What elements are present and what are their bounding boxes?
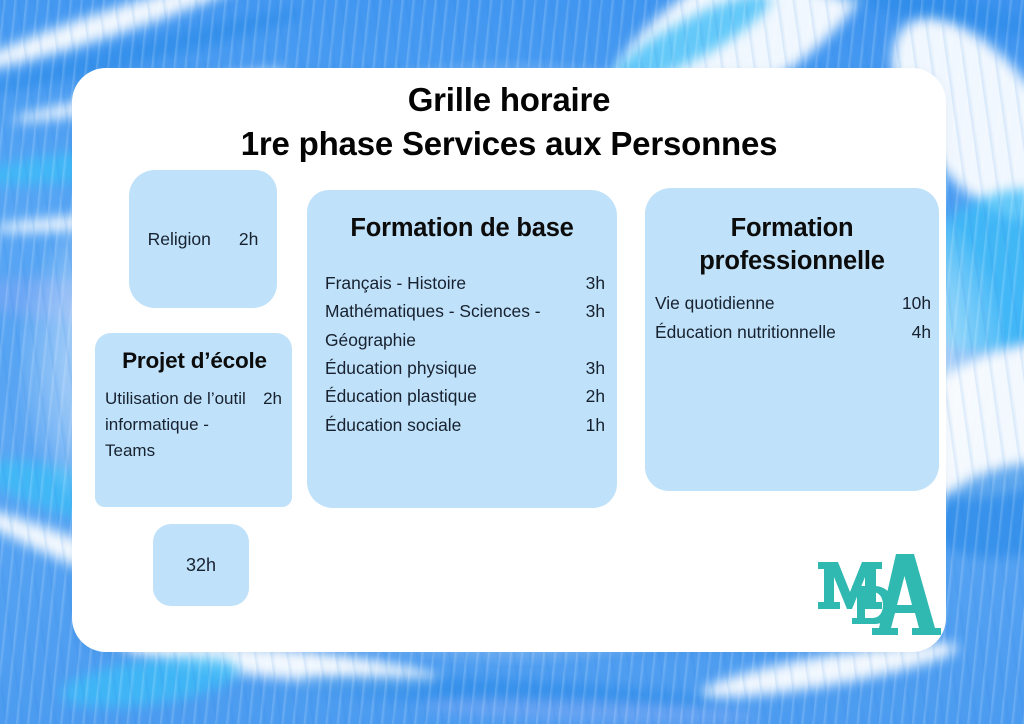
table-row: Éducation sociale 1h — [325, 411, 605, 439]
block-formation-de-base: Formation de base Français - Histoire 3h… — [307, 190, 617, 508]
religion-hours: 2h — [211, 229, 258, 250]
formation-pro-heading-line-1: Formation — [659, 212, 925, 245]
row-label: Éducation nutritionnelle — [655, 318, 836, 347]
row-hours: 2h — [253, 386, 282, 412]
row-label: Éducation physique — [325, 354, 477, 382]
row-hours: 3h — [576, 354, 605, 382]
title-line-1: Grille horaire — [72, 80, 946, 120]
row-hours: 3h — [576, 297, 605, 325]
row-label: Utilisation de l’outil informatique - Te… — [105, 386, 253, 463]
table-row: Religion 2h — [148, 229, 259, 250]
block-total-hours: 32h — [153, 524, 249, 606]
row-label: Éducation plastique — [325, 382, 477, 410]
formation-base-heading: Formation de base — [307, 214, 617, 243]
table-row: Éducation nutritionnelle 4h — [655, 318, 931, 347]
block-formation-professionnelle: Formation professionnelle Vie quotidienn… — [645, 188, 939, 491]
projet-ecole-rows: Utilisation de l’outil informatique - Te… — [95, 386, 292, 463]
formation-pro-heading-line-2: professionnelle — [659, 245, 925, 278]
page-title: Grille horaire 1re phase Services aux Pe… — [72, 80, 946, 165]
projet-ecole-heading: Projet d’école — [97, 348, 292, 374]
row-label: Français - Histoire — [325, 269, 466, 297]
block-projet-ecole: Projet d’école Utilisation de l’outil in… — [95, 333, 292, 507]
row-hours: 10h — [892, 289, 931, 318]
row-hours: 4h — [902, 318, 931, 347]
row-label: Mathématiques - Sciences - Géographie — [325, 297, 576, 354]
table-row: Mathématiques - Sciences - Géographie 3h — [325, 297, 605, 354]
row-hours: 1h — [576, 411, 605, 439]
row-label: Éducation sociale — [325, 411, 461, 439]
total-hours: 32h — [186, 555, 216, 576]
row-label: Vie quotidienne — [655, 289, 775, 318]
religion-label: Religion — [148, 229, 211, 250]
mda-logo: Logo MDA — [812, 540, 944, 652]
formation-pro-rows: Vie quotidienne 10h Éducation nutritionn… — [645, 289, 939, 346]
row-hours: 3h — [576, 269, 605, 297]
formation-base-rows: Français - Histoire 3h Mathématiques - S… — [307, 269, 617, 439]
block-religion: Religion 2h — [129, 170, 277, 308]
table-row: Vie quotidienne 10h — [655, 289, 931, 318]
table-row: Français - Histoire 3h — [325, 269, 605, 297]
row-hours: 2h — [576, 382, 605, 410]
poster: Grille horaire 1re phase Services aux Pe… — [0, 0, 1024, 724]
table-row: Éducation physique 3h — [325, 354, 605, 382]
formation-pro-heading: Formation professionnelle — [645, 212, 939, 277]
table-row: Éducation plastique 2h — [325, 382, 605, 410]
title-line-2: 1re phase Services aux Personnes — [72, 124, 946, 164]
table-row: Utilisation de l’outil informatique - Te… — [105, 386, 282, 463]
